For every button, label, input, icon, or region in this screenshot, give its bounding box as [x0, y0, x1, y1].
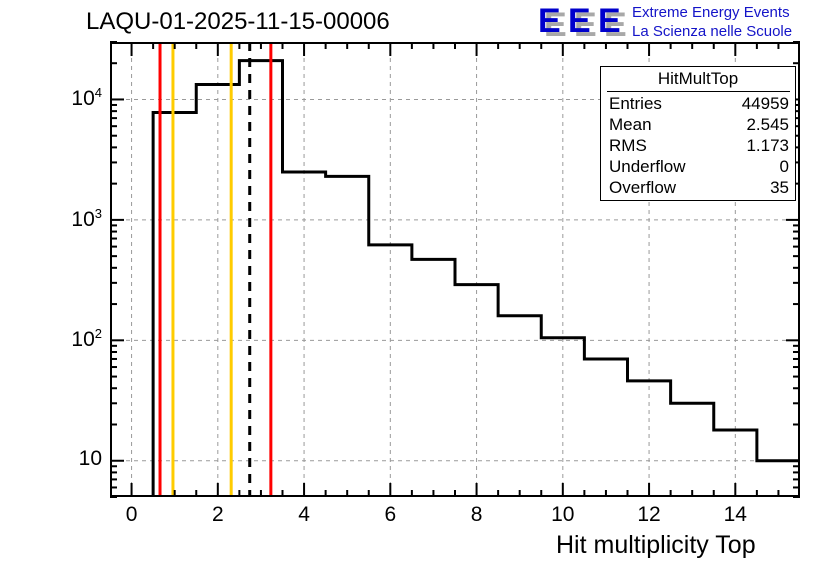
stats-row-mean: Mean 2.545 — [609, 115, 789, 136]
stats-value-underflow: 0 — [780, 157, 789, 177]
stats-key-rms: RMS — [609, 136, 647, 156]
stats-row-overflow: Overflow 35 — [609, 178, 789, 199]
stats-key-mean: Mean — [609, 115, 652, 135]
x-tick-label-7: 14 — [705, 503, 765, 527]
y-tick-label-0: 10 — [22, 447, 102, 471]
stats-row-underflow: Underflow 0 — [609, 157, 789, 178]
x-tick-label-2: 4 — [274, 503, 334, 527]
stats-key-underflow: Underflow — [609, 157, 686, 177]
stats-divider — [607, 91, 790, 92]
stats-key-entries: Entries — [609, 94, 662, 114]
stats-value-mean: 2.545 — [746, 115, 789, 135]
stats-value-entries: 44959 — [742, 94, 789, 114]
stats-box-title: HitMultTop — [601, 69, 795, 89]
x-tick-label-1: 2 — [188, 503, 248, 527]
stats-box: HitMultTop Entries 44959 Mean 2.545 RMS … — [600, 66, 796, 201]
stats-row-rms: RMS 1.173 — [609, 136, 789, 157]
stats-row-entries: Entries 44959 — [609, 94, 789, 115]
x-tick-label-6: 12 — [619, 503, 679, 527]
y-tick-label-2: 103 — [22, 206, 102, 232]
y-tick-label-1: 102 — [22, 326, 102, 352]
stats-key-overflow: Overflow — [609, 178, 676, 198]
root-canvas: { "title": "LAQU-01-2025-11-15-00006", "… — [0, 0, 836, 572]
stats-value-overflow: 35 — [770, 178, 789, 198]
x-axis-title: Hit multiplicity Top — [556, 531, 756, 560]
stats-value-rms: 1.173 — [746, 136, 789, 156]
y-tick-label-3: 104 — [22, 85, 102, 111]
x-tick-label-5: 10 — [533, 503, 593, 527]
x-tick-label-4: 8 — [447, 503, 507, 527]
x-tick-label-0: 0 — [102, 503, 162, 527]
x-tick-label-3: 6 — [360, 503, 420, 527]
